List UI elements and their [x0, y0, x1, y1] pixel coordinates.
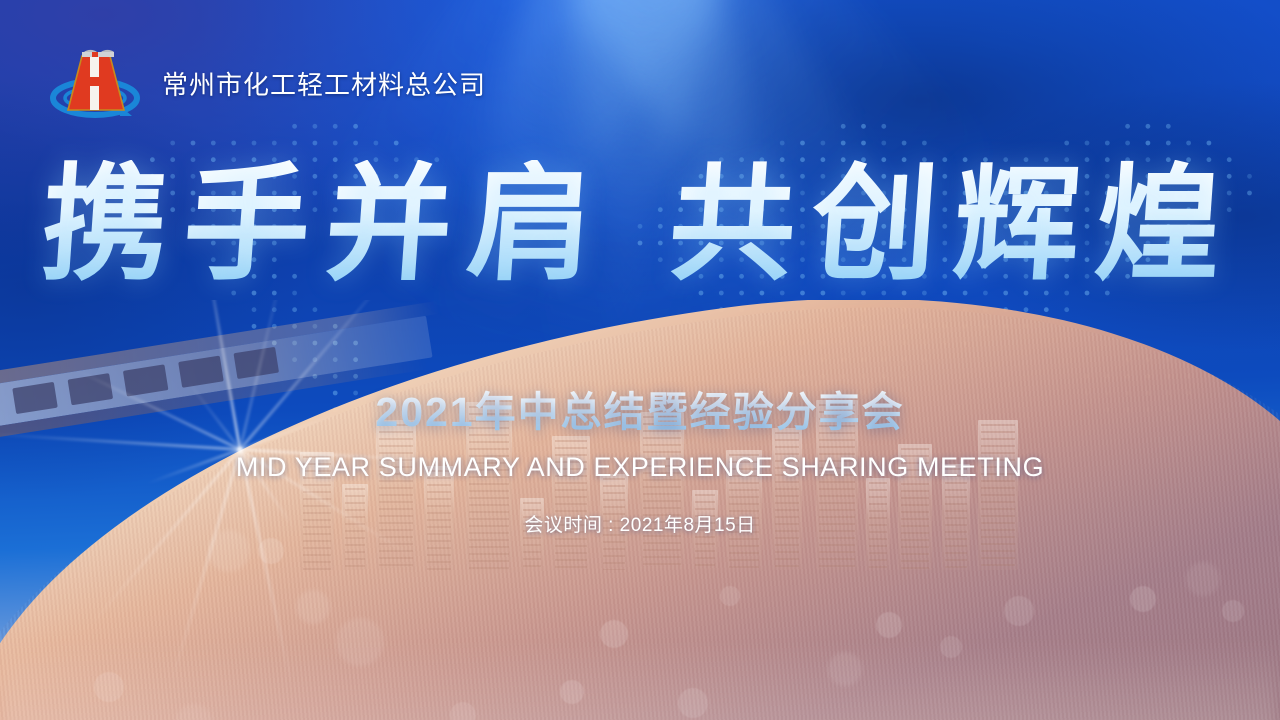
bokeh-circle [560, 680, 584, 704]
headline-text: 携手并肩 共创辉煌 [38, 160, 1243, 289]
bokeh-circle [1004, 596, 1034, 626]
bokeh-circle [1186, 562, 1220, 596]
company-name: 常州市化工轻工材料总公司 [162, 65, 486, 102]
bokeh-circle [876, 612, 902, 638]
brand-lockup: 常州市化工轻工材料总公司 [48, 46, 486, 120]
bokeh-circle [176, 704, 212, 720]
headline: 携手并肩 共创辉煌 [0, 160, 1280, 289]
bokeh-circle [450, 702, 476, 720]
meeting-date: 会议时间 : 2021年8月15日 [0, 510, 1280, 537]
bokeh-circle [296, 590, 330, 624]
bokeh-circle [828, 652, 862, 686]
bokeh-circle [336, 618, 384, 666]
subtitle-chinese: 2021年中总结暨经验分享会 [0, 378, 1280, 438]
company-logo-icon [48, 46, 148, 120]
bokeh-circle [720, 586, 740, 606]
subtitle-english: MID YEAR SUMMARY AND EXPERIENCE SHARING … [0, 452, 1280, 483]
bokeh-circle [1130, 586, 1156, 612]
bokeh-circle [940, 636, 962, 658]
bokeh-circle [258, 538, 284, 564]
bokeh-circle [94, 672, 124, 702]
bokeh-circle [600, 620, 628, 648]
conference-banner: 常州市化工轻工材料总公司 携手并肩 共创辉煌 2021年中总结暨经验分享会 MI… [0, 0, 1280, 720]
bokeh-circle [1222, 600, 1244, 622]
bokeh-circle [678, 688, 708, 718]
